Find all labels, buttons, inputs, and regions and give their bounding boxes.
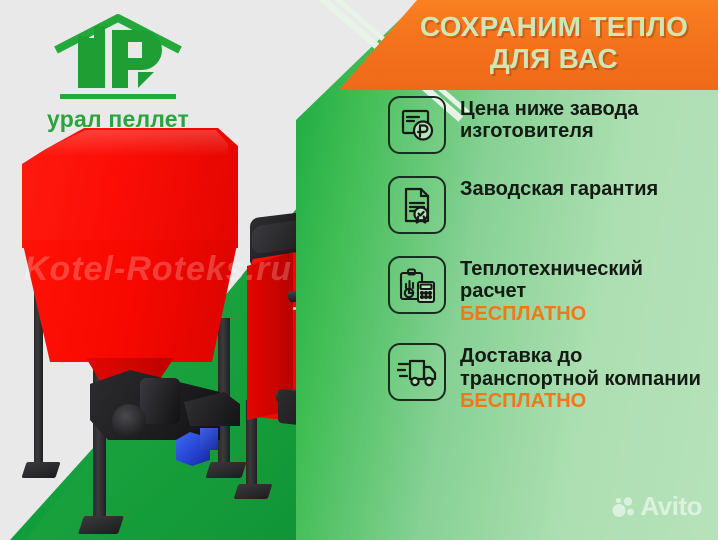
feature-free-badge: БЕСПЛАТНО (460, 303, 710, 325)
clipboard-calculator-icon (388, 256, 446, 314)
hopper-foot-right (205, 462, 246, 478)
feature-item-price: Цена ниже завода изготовителя (388, 96, 718, 154)
avito-wordmark: Avito (640, 491, 702, 522)
feature-line-1: Заводская (460, 178, 564, 200)
feature-free-badge: БЕСПЛАТНО (460, 390, 710, 412)
feature-text: Заводская гарантия (460, 176, 658, 200)
feature-line-2: расчет (460, 280, 526, 302)
certificate-document-icon (388, 176, 446, 234)
feature-text: Теплотехнический расчет БЕСПЛАТНО (460, 256, 710, 325)
feature-item-delivery: Доставка до транспортной компании БЕСПЛА… (388, 343, 718, 412)
feature-line-2: изготовителя (460, 120, 594, 142)
feature-line-1: Цена ниже завода (460, 98, 638, 120)
boiler-foot (234, 484, 273, 499)
headline-line-2: ДЛЯ ВАС (490, 43, 618, 74)
feature-line-3: компании (605, 368, 701, 390)
feature-line-2: транспортной (460, 368, 599, 390)
document-ruble-icon (388, 96, 446, 154)
feature-item-warranty: Заводская гарантия (388, 176, 718, 234)
feature-line-1: Теплотехнический (460, 258, 643, 280)
avito-watermark: Avito (611, 491, 702, 522)
brand-logo: урал пеллет (28, 14, 208, 133)
brand-name: урал пеллет (28, 106, 208, 133)
avito-dots-icon (611, 496, 637, 518)
hopper-foot-midfront (78, 516, 124, 534)
advertisement-banner: Kotel-Roteks.ru урал пеллет СОХРАНИМ ТЕП… (0, 0, 718, 540)
feature-item-calculation: Теплотехнический расчет БЕСПЛАТНО (388, 256, 718, 325)
hopper-highlight (30, 130, 228, 156)
boiler-bolt (293, 307, 296, 310)
blower-fan (112, 404, 146, 438)
feature-line-1: Доставка до (460, 345, 582, 367)
features-list: Цена ниже завода изготовителя Заводская … (388, 96, 718, 424)
hopper-foot-left (21, 462, 60, 478)
headline-line-1: СОХРАНИМ ТЕПЛО (420, 11, 688, 42)
feature-line-2: гарантия (570, 178, 659, 200)
pellet-hopper-body (22, 240, 238, 362)
auger-motor (140, 378, 180, 424)
control-unit-blue-side (200, 428, 218, 450)
delivery-truck-icon (388, 343, 446, 401)
feature-text: Цена ниже завода изготовителя (460, 96, 710, 143)
house-up-logo-icon (52, 14, 184, 102)
feature-text: Доставка до транспортной компании БЕСПЛА… (460, 343, 710, 412)
headline: СОХРАНИМ ТЕПЛО ДЛЯ ВАС (399, 11, 709, 74)
